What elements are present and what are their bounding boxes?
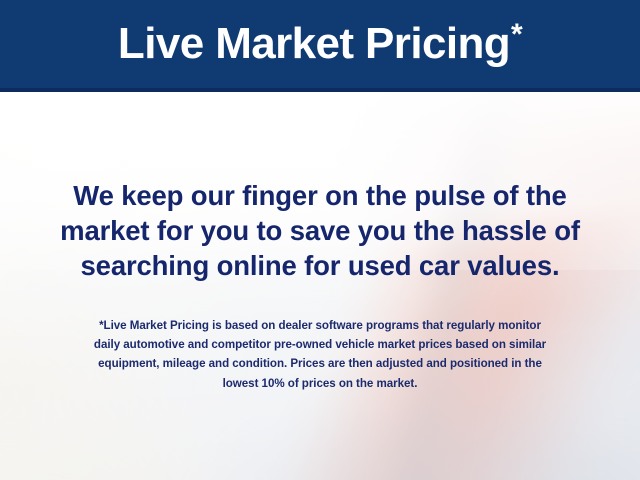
page-title-text: Live Market Pricing (118, 22, 510, 66)
disclaimer-line: lowest 10% of prices on the market. (20, 374, 620, 393)
headline-line: market for you to save you the hassle of (20, 213, 620, 248)
header-bar: Live Market Pricing* (0, 0, 640, 92)
headline-line: We keep our finger on the pulse of the (20, 178, 620, 213)
page-title-asterisk: * (511, 20, 522, 50)
headline-line: searching online for used car values. (20, 248, 620, 283)
disclaimer-line: daily automotive and competitor pre-owne… (20, 335, 620, 354)
live-market-pricing-banner: Live Market Pricing* We keep our finger … (0, 0, 640, 480)
headline: We keep our finger on the pulse of the m… (20, 178, 620, 283)
disclaimer-line: equipment, mileage and condition. Prices… (20, 354, 620, 373)
page-title: Live Market Pricing* (0, 0, 640, 88)
disclaimer: *Live Market Pricing is based on dealer … (20, 316, 620, 393)
disclaimer-line: *Live Market Pricing is based on dealer … (20, 316, 620, 335)
background-photo (0, 92, 640, 480)
